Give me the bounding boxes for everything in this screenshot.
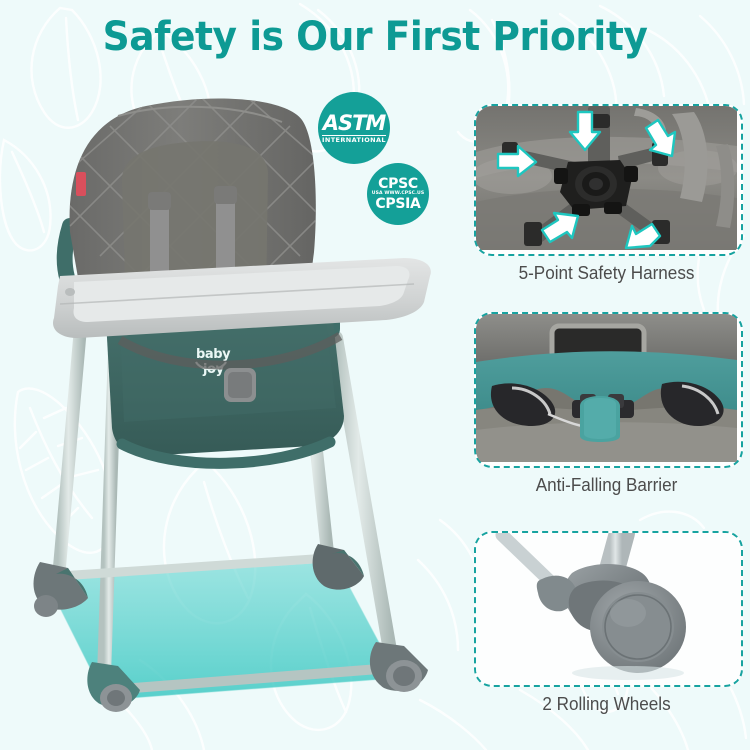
astm-certification-badge: ASTM INTERNATIONAL — [318, 92, 390, 164]
barrier-image-frame — [474, 312, 743, 468]
cpsc-certification-badge: CPSC USA WWW.CPSC.US CPSIA — [367, 163, 429, 225]
feature-panel-harness: 5-Point Safety Harness — [474, 104, 739, 284]
cpsc-line2-text: CPSIA — [375, 197, 420, 211]
feature-panel-barrier: Anti-Falling Barrier — [474, 312, 739, 496]
page-title: Safety is Our First Priority — [23, 14, 728, 60]
harness-caption: 5-Point Safety Harness — [481, 263, 733, 284]
astm-mark-text: ASTM — [323, 113, 386, 134]
cpsc-line1-text: CPSC — [378, 177, 418, 191]
barrier-photo — [476, 314, 737, 462]
feature-panel-wheels: 2 Rolling Wheels — [474, 531, 739, 715]
harness-image-frame — [474, 104, 743, 256]
astm-subtitle-text: INTERNATIONAL — [322, 135, 386, 144]
wheel-photo — [476, 533, 737, 681]
harness-photo — [476, 106, 737, 250]
caster-wheel — [590, 581, 686, 673]
barrier-caption: Anti-Falling Barrier — [481, 475, 733, 496]
wheels-image-frame — [474, 531, 743, 687]
anti-falling-post — [580, 396, 620, 442]
wheels-caption: 2 Rolling Wheels — [481, 694, 733, 715]
infographic-canvas: Safety is Our First Priority — [0, 0, 750, 750]
